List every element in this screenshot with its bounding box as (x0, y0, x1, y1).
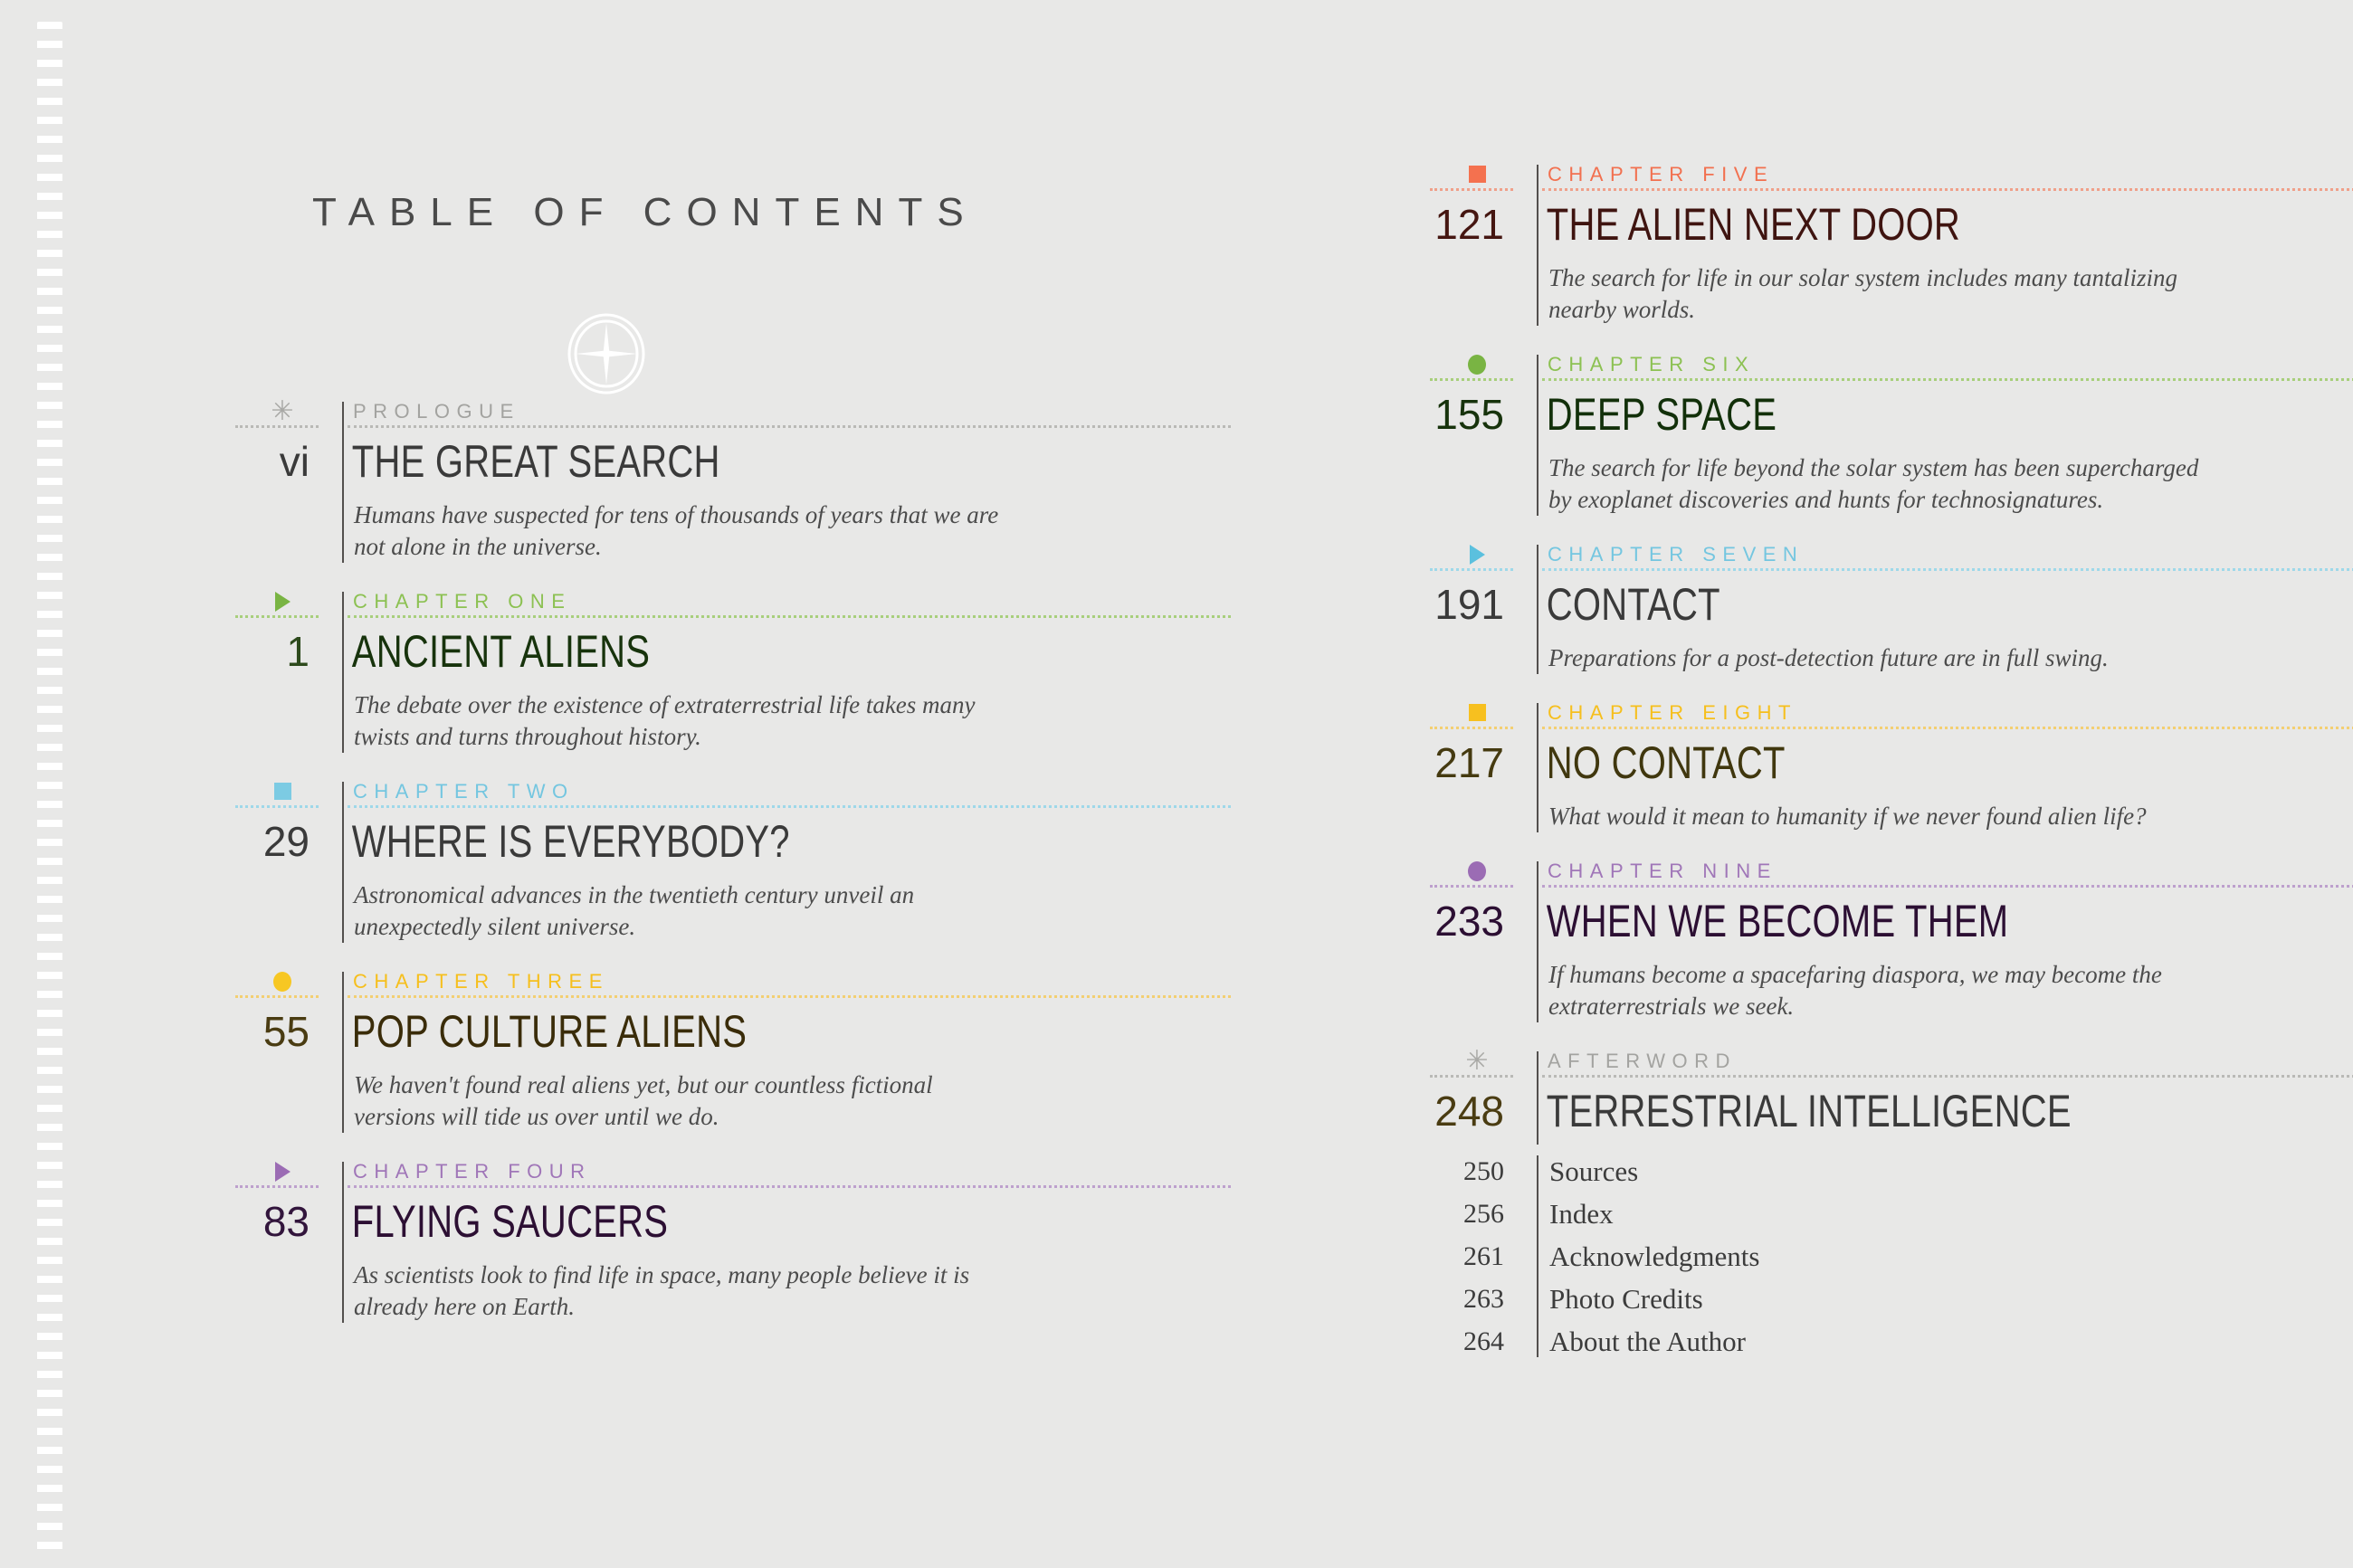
entry-kicker: CHAPTER TWO (348, 778, 1231, 805)
toc-entry[interactable]: CHAPTER NINE233WHEN WE BECOME THEMIf hum… (1430, 858, 2353, 1022)
entry-divider (342, 1162, 344, 1323)
entry-title[interactable]: TERRESTRIAL INTELLIGENCE (1542, 1078, 2249, 1145)
entry-title[interactable]: ANCIENT ALIENS (348, 618, 1054, 685)
entry-description: The search for life beyond the solar sys… (1542, 448, 2209, 516)
asterisk-marker-icon: ✳ (271, 396, 293, 426)
square-marker-icon (1469, 166, 1486, 183)
entry-title[interactable]: DEEP SPACE (1542, 381, 2249, 448)
back-matter-item[interactable]: Index (1542, 1193, 2353, 1235)
entry-description: As scientists look to find life in space… (348, 1255, 1015, 1323)
triangle-marker-icon (1470, 545, 1485, 565)
entry-marker: ✳ (1430, 1048, 1524, 1075)
entry-kicker: CHAPTER FOUR (348, 1158, 1231, 1185)
entry-divider (1537, 545, 1538, 674)
toc-entry[interactable]: CHAPTER SIX155DEEP SPACEThe search for l… (1430, 351, 2353, 516)
toc-entry[interactable]: CHAPTER ONE1ANCIENT ALIENSThe debate ove… (235, 588, 1231, 753)
entry-description: If humans become a spacefaring diaspora,… (1542, 955, 2209, 1022)
entry-page-number: 155 (1430, 381, 1524, 448)
entry-title[interactable]: CONTACT (1542, 571, 2249, 638)
entry-page-number: 121 (1430, 191, 1524, 258)
back-matter-item[interactable]: Photo Credits (1542, 1278, 2353, 1320)
back-matter-page-number: 250 (1430, 1150, 1524, 1193)
entry-kicker: CHAPTER FIVE (1542, 161, 2353, 188)
entry-description: The debate over the existence of extrate… (348, 685, 1015, 753)
entry-description: What would it mean to humanity if we nev… (1542, 796, 2209, 832)
toc-entry[interactable]: CHAPTER TWO29WHERE IS EVERYBODY?Astronom… (235, 778, 1231, 943)
entry-kicker: CHAPTER THREE (348, 968, 1231, 995)
entry-divider (342, 592, 344, 753)
entry-divider (1537, 703, 1538, 832)
entry-page-number: 233 (1430, 888, 1524, 955)
triangle-marker-icon (275, 592, 291, 612)
entry-divider (342, 402, 344, 563)
entry-kicker: CHAPTER NINE (1542, 858, 2353, 885)
entry-kicker: PROLOGUE (348, 398, 1231, 425)
entry-description: Humans have suspected for tens of thousa… (348, 495, 1015, 563)
entry-marker (1430, 351, 1524, 378)
entry-description: Preparations for a post-detection future… (1542, 638, 2209, 674)
binding-dash-strip-icon (37, 22, 62, 1560)
circle-marker-icon (1468, 861, 1486, 881)
entry-title[interactable]: NO CONTACT (1542, 729, 2249, 796)
back-matter-spacer (1524, 1278, 1542, 1320)
entry-marker (1430, 699, 1524, 727)
square-marker-icon (274, 783, 291, 800)
back-matter-list: 250Sources256Index261Acknowledgments263P… (1430, 1150, 2353, 1363)
entry-page-number: 29 (235, 808, 329, 875)
back-matter-item[interactable]: Acknowledgments (1542, 1235, 2353, 1278)
back-matter-spacer (1524, 1235, 1542, 1278)
entry-kicker: CHAPTER ONE (348, 588, 1231, 615)
back-matter-divider (1537, 1155, 1538, 1357)
entry-page-number: 248 (1430, 1078, 1524, 1145)
entry-marker (1430, 541, 1524, 568)
back-matter-spacer (1524, 1150, 1542, 1193)
toc-entry[interactable]: CHAPTER FOUR83FLYING SAUCERSAs scientist… (235, 1158, 1231, 1323)
toc-entry[interactable]: CHAPTER FIVE121THE ALIEN NEXT DOORThe se… (1430, 161, 2353, 326)
entry-divider (1537, 1051, 1538, 1145)
circle-marker-icon (273, 972, 291, 992)
entry-page-number: 191 (1430, 571, 1524, 638)
entry-kicker: CHAPTER SEVEN (1542, 541, 2353, 568)
toc-entry[interactable]: CHAPTER EIGHT217NO CONTACTWhat would it … (1430, 699, 2353, 832)
back-matter-page-number: 263 (1430, 1278, 1524, 1320)
entry-title[interactable]: FLYING SAUCERS (348, 1188, 1054, 1255)
entry-page-number: 83 (235, 1188, 329, 1255)
entry-marker (235, 588, 329, 615)
entry-description: Astronomical advances in the twentieth c… (348, 875, 1015, 943)
triangle-marker-icon (275, 1162, 291, 1182)
entry-page-number: vi (235, 428, 329, 495)
toc-column-right: CHAPTER FIVE121THE ALIEN NEXT DOORThe se… (1430, 0, 2353, 1363)
entry-page-number: 55 (235, 998, 329, 1065)
back-matter-page-number: 261 (1430, 1235, 1524, 1278)
entry-divider (1537, 861, 1538, 1022)
entry-title[interactable]: POP CULTURE ALIENS (348, 998, 1054, 1065)
entry-divider (1537, 165, 1538, 326)
entry-kicker: AFTERWORD (1542, 1048, 2353, 1075)
toc-page: TABLE OF CONTENTS ✳PROLOGUEviTHE GREAT S… (0, 0, 2353, 1568)
toc-entry[interactable]: CHAPTER SEVEN191CONTACTPreparations for … (1430, 541, 2353, 674)
entry-divider (342, 782, 344, 943)
entry-marker (1430, 161, 1524, 188)
square-marker-icon (1469, 704, 1486, 721)
entry-marker (235, 778, 329, 805)
entry-title[interactable]: WHERE IS EVERYBODY? (348, 808, 1054, 875)
entry-marker: ✳ (235, 398, 329, 425)
asterisk-marker-icon: ✳ (1465, 1046, 1488, 1076)
entry-title[interactable]: THE ALIEN NEXT DOOR (1542, 191, 2249, 258)
entry-description: We haven't found real aliens yet, but ou… (348, 1065, 1015, 1133)
toc-entry[interactable]: ✳PROLOGUEviTHE GREAT SEARCHHumans have s… (235, 398, 1231, 563)
entry-kicker: CHAPTER EIGHT (1542, 699, 2353, 727)
entry-title[interactable]: WHEN WE BECOME THEM (1542, 888, 2249, 955)
entry-title[interactable]: THE GREAT SEARCH (348, 428, 1054, 495)
back-matter-spacer (1524, 1193, 1542, 1235)
entry-divider (1537, 355, 1538, 516)
entry-page-number: 1 (235, 618, 329, 685)
entry-marker (235, 1158, 329, 1185)
entry-divider (342, 972, 344, 1133)
entry-description: The search for life in our solar system … (1542, 258, 2209, 326)
back-matter-page-number: 256 (1430, 1193, 1524, 1235)
back-matter-page-number: 264 (1430, 1320, 1524, 1363)
toc-entry[interactable]: CHAPTER THREE55POP CULTURE ALIENSWe have… (235, 968, 1231, 1133)
toc-entry[interactable]: ✳AFTERWORD248TERRESTRIAL INTELLIGENCE (1430, 1048, 2353, 1145)
toc-column-left: ✳PROLOGUEviTHE GREAT SEARCHHumans have s… (235, 0, 1231, 1348)
back-matter-item[interactable]: About the Author (1542, 1320, 2353, 1363)
entry-marker (1430, 858, 1524, 885)
entry-marker (235, 968, 329, 995)
entry-page-number: 217 (1430, 729, 1524, 796)
entry-kicker: CHAPTER SIX (1542, 351, 2353, 378)
circle-marker-icon (1468, 355, 1486, 375)
back-matter-spacer (1524, 1320, 1542, 1363)
back-matter-item[interactable]: Sources (1542, 1150, 2353, 1193)
